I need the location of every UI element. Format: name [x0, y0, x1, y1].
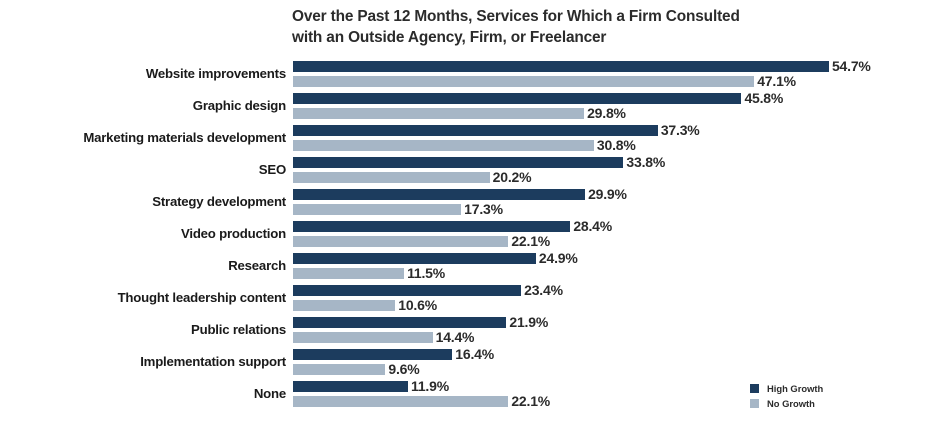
bar-row: 28.4% [292, 220, 936, 233]
category-label: Graphic design [0, 98, 286, 113]
category-label: Website improvements [0, 66, 286, 81]
bar-row: 11.5% [292, 267, 936, 280]
bar-no[interactable] [292, 139, 595, 152]
bar-row: 9.6% [292, 363, 936, 376]
bar-row: 29.8% [292, 107, 936, 120]
bar-value-label: 33.8% [626, 154, 665, 170]
chart-category-group: Graphic design45.8%29.8% [0, 92, 936, 120]
bar-value-label: 17.3% [464, 201, 503, 217]
bar-value-label: 21.9% [509, 314, 548, 330]
bar-value-label: 16.4% [455, 346, 494, 362]
bar-value-label: 22.1% [511, 233, 550, 249]
bar-value-label: 24.9% [539, 250, 578, 266]
chart-category-group: Implementation support16.4%9.6% [0, 348, 936, 376]
bar-no[interactable] [292, 235, 509, 248]
bar-value-label: 20.2% [493, 169, 532, 185]
legend-item[interactable]: High Growth [750, 381, 823, 396]
bar-row: 21.9% [292, 316, 936, 329]
legend-item[interactable]: No Growth [750, 396, 823, 411]
chart-category-group: Website improvements54.7%47.1% [0, 60, 936, 88]
legend-swatch-icon [750, 384, 759, 393]
bar-value-label: 45.8% [744, 90, 783, 106]
bar-row: 17.3% [292, 203, 936, 216]
bar-row: 10.6% [292, 299, 936, 312]
bar-value-label: 23.4% [524, 282, 563, 298]
legend-label: No Growth [767, 396, 815, 411]
category-label: Research [0, 258, 286, 273]
bar-row: 14.4% [292, 331, 936, 344]
bar-high[interactable] [292, 188, 586, 201]
bar-no[interactable] [292, 107, 585, 120]
bar-value-label: 29.9% [588, 186, 627, 202]
chart-category-group: Video production28.4%22.1% [0, 220, 936, 248]
bar-value-label: 29.8% [587, 105, 626, 121]
bar-high[interactable] [292, 252, 537, 265]
legend-swatch-icon [750, 399, 759, 408]
category-label: Implementation support [0, 354, 286, 369]
bar-row: 22.1% [292, 395, 936, 408]
bar-value-label: 9.6% [388, 361, 419, 377]
bar-chart: Over the Past 12 Months, Services for Wh… [0, 0, 936, 440]
bar-high[interactable] [292, 284, 522, 297]
bar-value-label: 28.4% [573, 218, 612, 234]
bar-no[interactable] [292, 75, 755, 88]
category-label: Video production [0, 226, 286, 241]
plot-area: Website improvements54.7%47.1%Graphic de… [0, 0, 936, 440]
bar-value-label: 54.7% [832, 58, 871, 74]
chart-category-group: Strategy development29.9%17.3% [0, 188, 936, 216]
bar-row: 45.8% [292, 92, 936, 105]
category-label: Public relations [0, 322, 286, 337]
chart-category-group: SEO33.8%20.2% [0, 156, 936, 184]
bar-no[interactable] [292, 171, 491, 184]
bar-row: 33.8% [292, 156, 936, 169]
bar-row: 16.4% [292, 348, 936, 361]
bar-no[interactable] [292, 267, 405, 280]
bar-row: 22.1% [292, 235, 936, 248]
chart-category-group: Marketing materials development37.3%30.8… [0, 124, 936, 152]
category-label: Marketing materials development [0, 130, 286, 145]
category-label: Thought leadership content [0, 290, 286, 305]
bar-high[interactable] [292, 316, 507, 329]
bar-row: 20.2% [292, 171, 936, 184]
bar-no[interactable] [292, 203, 462, 216]
bar-value-label: 14.4% [436, 329, 475, 345]
bar-high[interactable] [292, 380, 409, 393]
bar-no[interactable] [292, 299, 396, 312]
bar-high[interactable] [292, 92, 742, 105]
bar-row: 11.9% [292, 380, 936, 393]
bar-value-label: 11.5% [407, 265, 445, 281]
bar-no[interactable] [292, 395, 509, 408]
category-label: None [0, 386, 286, 401]
bar-high[interactable] [292, 124, 659, 137]
bar-row: 23.4% [292, 284, 936, 297]
chart-category-group: Thought leadership content23.4%10.6% [0, 284, 936, 312]
chart-legend: High GrowthNo Growth [750, 381, 823, 411]
bar-high[interactable] [292, 220, 571, 233]
bar-row: 47.1% [292, 75, 936, 88]
bar-row: 30.8% [292, 139, 936, 152]
bar-value-label: 10.6% [398, 297, 437, 313]
bar-value-label: 30.8% [597, 137, 636, 153]
legend-label: High Growth [767, 381, 823, 396]
bar-value-label: 22.1% [511, 393, 550, 409]
bar-row: 37.3% [292, 124, 936, 137]
bar-value-label: 37.3% [661, 122, 700, 138]
bar-value-label: 11.9% [411, 378, 449, 394]
bar-row: 54.7% [292, 60, 936, 73]
bar-no[interactable] [292, 331, 434, 344]
bar-no[interactable] [292, 363, 386, 376]
bar-high[interactable] [292, 348, 453, 361]
bar-value-label: 47.1% [757, 73, 796, 89]
bar-high[interactable] [292, 156, 624, 169]
bar-row: 29.9% [292, 188, 936, 201]
category-label: Strategy development [0, 194, 286, 209]
chart-category-group: Public relations21.9%14.4% [0, 316, 936, 344]
chart-category-group: Research24.9%11.5% [0, 252, 936, 280]
bar-row: 24.9% [292, 252, 936, 265]
category-label: SEO [0, 162, 286, 177]
bar-high[interactable] [292, 60, 830, 73]
